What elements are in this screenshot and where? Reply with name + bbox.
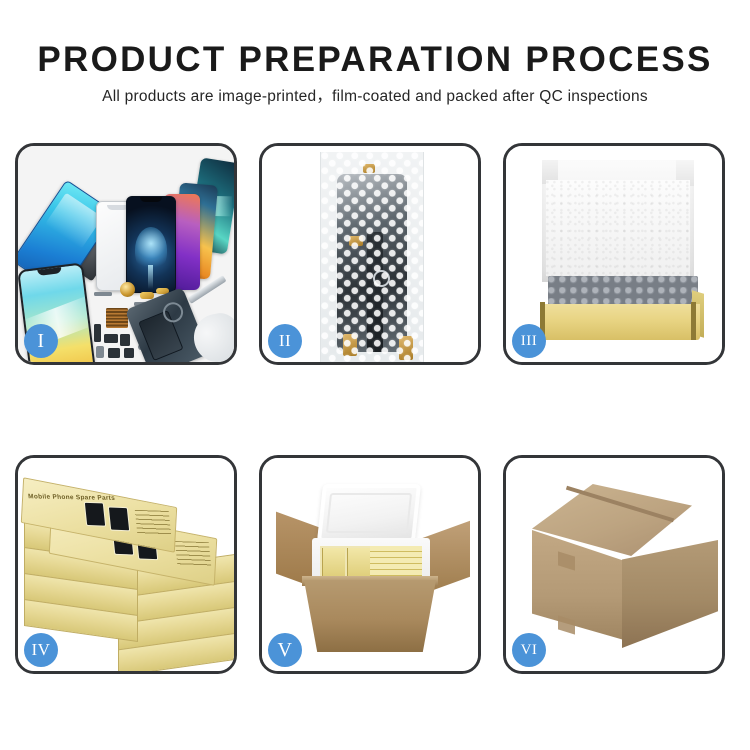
part-speaker-coil [120,282,135,297]
box-label-thumbnail-4 [108,506,130,531]
carton-body [304,580,436,652]
wallpaper-graphic [135,227,167,273]
step-badge-5: V [268,633,302,667]
bubble-texture [321,152,423,362]
part-bracket [94,292,112,296]
step-badge-3: III [512,324,546,358]
part-screw-block [96,346,104,358]
part-chip-e [124,348,134,358]
phone-notch [140,197,162,202]
process-step-grid: I II III [15,143,737,677]
process-step-panel-6: VI [503,455,725,674]
box-label-thumbnail-3 [84,502,106,527]
header: PRODUCT PREPARATION PROCESS All products… [0,0,750,130]
foam-sheet [546,180,690,276]
process-step-panel-2: II [259,143,481,365]
box-label-spec-lines-lower [175,541,212,568]
box-stack: Mobile Phone Spare Parts Mobile Phone Sp… [22,474,234,662]
process-step-panel-3: III [503,143,725,365]
phone-dark-wallpaper [126,196,176,293]
foam-box-lid [317,484,421,542]
sealed-carton-right-face [622,540,718,648]
box-label-text-upper: Mobile Phone Spare Parts [28,493,116,502]
box-front-panel [540,304,700,340]
part-chip-b [104,334,118,343]
step-badge-4: IV [24,633,58,667]
process-step-panel-4: Mobile Phone Spare Parts Mobile Phone Sp… [15,455,237,674]
page-subtitle: All products are image-printed，film-coat… [0,77,750,105]
part-chip-c [120,334,130,346]
page-title: PRODUCT PREPARATION PROCESS [0,0,750,77]
part-connector-grid [106,308,128,328]
part-chip-d [108,348,120,358]
part-flex-strip [94,324,101,342]
step-badge-1: I [24,324,58,358]
step-badge-6: VI [512,633,546,667]
box-label-spec-lines-upper [135,510,172,537]
bubble-wrap-bag [320,152,424,362]
process-step-panel-1: I [15,143,237,365]
process-step-panel-5: V [259,455,481,674]
step-badge-2: II [268,324,302,358]
